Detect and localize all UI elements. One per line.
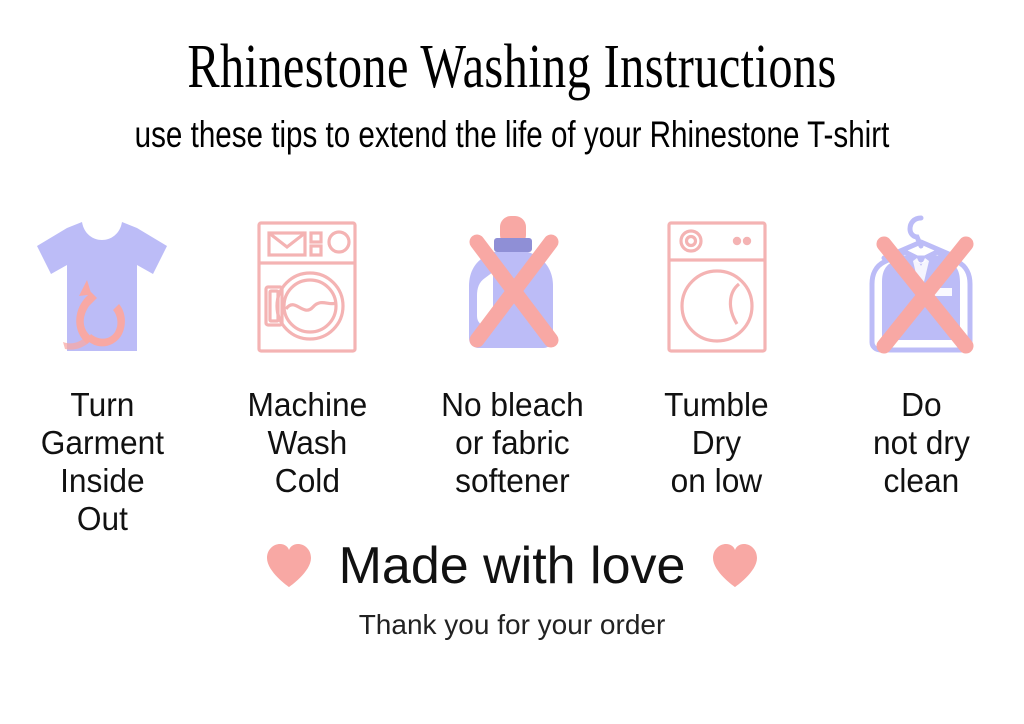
- icon-cell-turn-garment-inside-out: [0, 208, 205, 368]
- instruction-label-tumble-dry-on-low: Tumble Dry on low: [618, 386, 815, 500]
- tumble-dryer-icon: [657, 208, 777, 363]
- no-dry-clean-icon: [854, 208, 989, 363]
- tshirt-inside-out-icon: [27, 208, 177, 363]
- instruction-label-row: Turn Garment Inside Out Machine Wash Col…: [0, 386, 1024, 538]
- made-with-love-row: Made with love: [0, 536, 1024, 596]
- icon-cell-do-not-dry-clean: [819, 208, 1024, 368]
- instruction-icon-row: [0, 208, 1024, 368]
- icon-cell-machine-wash-cold: [205, 208, 410, 368]
- heart-icon-left: [265, 543, 313, 589]
- icon-cell-no-bleach-or-fabric-softener: [410, 208, 615, 368]
- header: Rhinestone Washing Instructions use thes…: [0, 32, 1024, 156]
- instruction-label-do-not-dry-clean: Do not dry clean: [823, 386, 1020, 500]
- washing-instructions-card: Rhinestone Washing Instructions use thes…: [0, 0, 1024, 724]
- heart-icon-right: [711, 543, 759, 589]
- no-bleach-detergent-icon: [447, 208, 577, 363]
- made-with-love-text: Made with love: [339, 536, 686, 596]
- thank-you-text: Thank you for your order: [0, 608, 1024, 642]
- washing-machine-icon: [247, 208, 367, 363]
- icon-cell-tumble-dry-on-low: [614, 208, 819, 368]
- page-subtitle: use these tips to extend the life of you…: [102, 114, 921, 156]
- instruction-label-turn-garment-inside-out: Turn Garment Inside Out: [4, 386, 201, 538]
- instruction-label-no-bleach-or-fabric-softener: No bleach or fabric softener: [414, 386, 611, 500]
- page-title: Rhinestone Washing Instructions: [113, 32, 912, 102]
- instruction-label-machine-wash-cold: Machine Wash Cold: [209, 386, 406, 500]
